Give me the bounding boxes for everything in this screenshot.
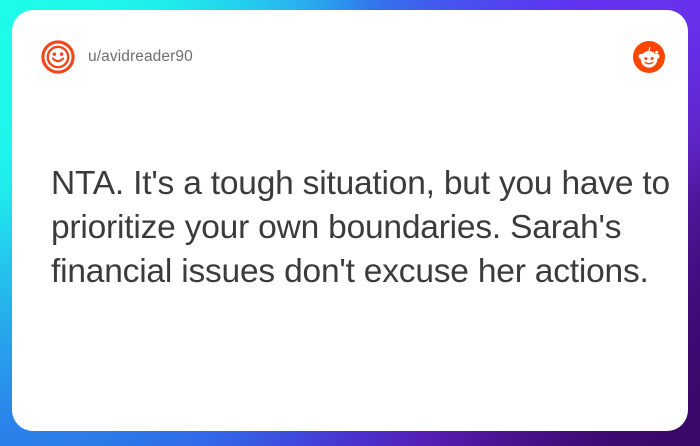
username-label[interactable]: u/avidreader90 xyxy=(88,48,193,66)
smiley-face-avatar-icon[interactable] xyxy=(40,39,76,75)
screenshot-root: u/avidreader90 NTA. It's a tough situati… xyxy=(0,0,700,446)
reddit-snoo-logo-icon[interactable] xyxy=(632,40,666,74)
post-header: u/avidreader90 xyxy=(40,37,666,77)
post-body-text: NTA. It's a tough situation, but you hav… xyxy=(51,162,676,294)
post-card: u/avidreader90 NTA. It's a tough situati… xyxy=(12,10,688,431)
